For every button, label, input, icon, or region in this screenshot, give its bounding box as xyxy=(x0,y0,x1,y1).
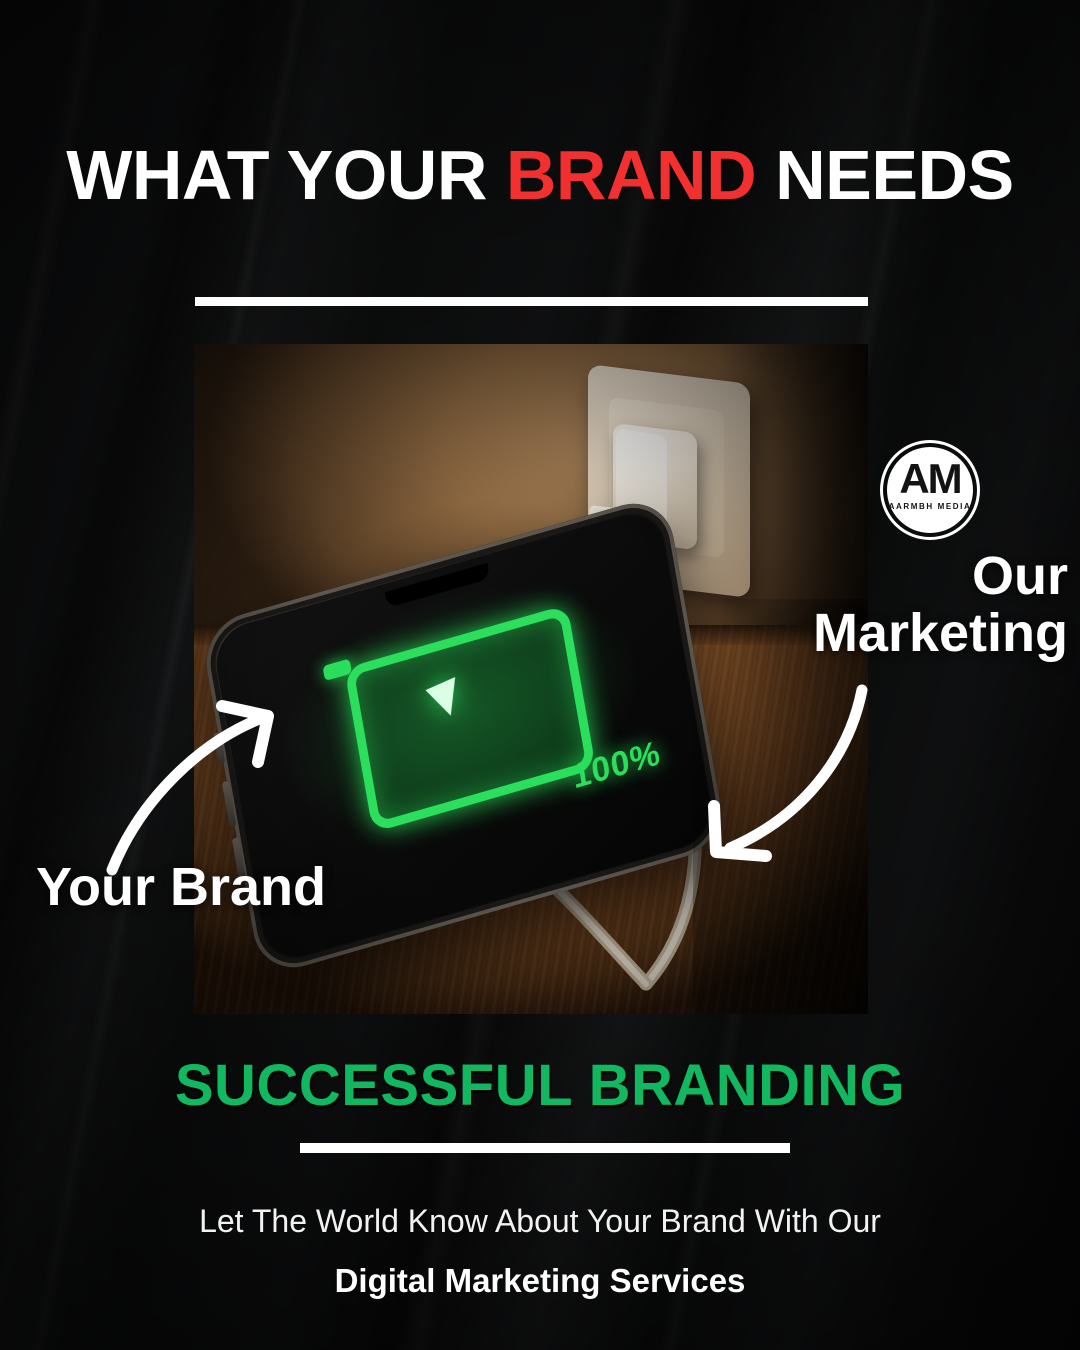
headline-part1: WHAT YOUR xyxy=(66,136,506,214)
poster-canvas: WHAT YOUR BRAND NEEDS xyxy=(0,0,1080,1350)
label-our-marketing-line2: Marketing xyxy=(648,605,1068,662)
brand-logo: AM AARMBH MEDIA xyxy=(880,440,980,540)
divider-bottom xyxy=(300,1143,790,1153)
label-our-marketing: Our Marketing xyxy=(648,548,1068,662)
page-title: WHAT YOUR BRAND NEEDS xyxy=(0,140,1080,210)
subheading: SUCCESSFUL BRANDING xyxy=(0,1052,1080,1119)
label-your-brand: Your Brand xyxy=(36,856,326,918)
logo-monogram: AM xyxy=(880,458,980,500)
tagline-line-2: Digital Marketing Services xyxy=(0,1262,1080,1300)
divider-top xyxy=(195,297,868,306)
tagline-line-1: Let The World Know About Your Brand With… xyxy=(0,1203,1080,1240)
headline-accent-brand: BRAND xyxy=(506,136,756,214)
headline-part2: NEEDS xyxy=(756,136,1014,214)
label-our-marketing-line1: Our xyxy=(648,548,1068,605)
logo-brand-name: AARMBH MEDIA xyxy=(880,502,980,511)
